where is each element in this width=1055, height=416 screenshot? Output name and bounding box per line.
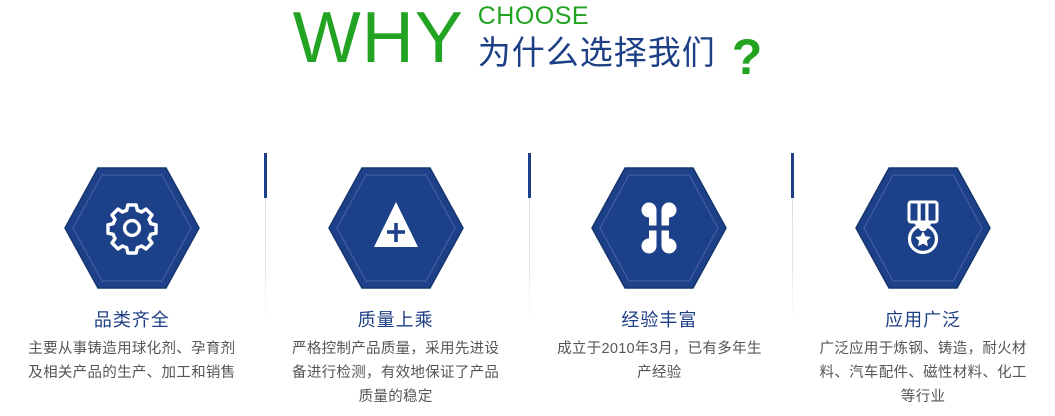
hexagon-badge-4 [855, 167, 991, 289]
divider-fade-segment [265, 198, 266, 323]
feature-card-4[interactable]: 应用广泛 广泛应用于炼钢、铸造，耐火材料、汽车配件、磁性材料、化工等行业 [791, 150, 1055, 416]
feature-card-2[interactable]: 质量上乘 严格控制产品质量，采用先进设备进行检测，有效地保证了产品质量的稳定 [264, 150, 528, 416]
hexagon-shape [855, 167, 991, 289]
card-title: 经验丰富 [621, 309, 697, 331]
hexagon-badge-2 [328, 167, 464, 289]
card-description: 成立于2010年3月，已有多年生产经验 [551, 337, 767, 385]
card-title: 应用广泛 [885, 309, 961, 331]
heading-question-mark: ? [732, 37, 763, 77]
card-title: 质量上乘 [358, 309, 434, 331]
hexagon-shape [64, 167, 200, 289]
divider-accent-segment [528, 153, 531, 198]
hexagon-shape [591, 167, 727, 289]
heading-choose: CHOOSE [478, 3, 763, 30]
divider-accent-segment [791, 153, 794, 198]
card-divider [528, 153, 531, 323]
card-description: 主要从事铸造用球化剂、孕育剂及相关产品的生产、加工和销售 [24, 337, 240, 385]
feature-card-1[interactable]: 品类齐全 主要从事铸造用球化剂、孕育剂及相关产品的生产、加工和销售 [0, 150, 264, 416]
card-divider [791, 153, 794, 323]
page-heading: WHY CHOOSE 为什么选择我们 ? [0, 0, 1055, 96]
hexagon-badge-1 [64, 167, 200, 289]
card-title: 品类齐全 [94, 309, 170, 331]
divider-fade-segment [792, 198, 793, 323]
card-description: 严格控制产品质量，采用先进设备进行检测，有效地保证了产品质量的稳定 [288, 337, 504, 409]
card-description: 广泛应用于炼钢、铸造，耐火材料、汽车配件、磁性材料、化工等行业 [815, 337, 1031, 409]
divider-fade-segment [529, 198, 530, 323]
divider-accent-segment [264, 153, 267, 198]
hexagon-badge-3 [591, 167, 727, 289]
card-divider [264, 153, 267, 323]
feature-card-3[interactable]: 经验丰富 成立于2010年3月，已有多年生产经验 [528, 150, 792, 416]
feature-cards-row: 品类齐全 主要从事铸造用球化剂、孕育剂及相关产品的生产、加工和销售 质量上乘 严… [0, 150, 1055, 416]
heading-why: WHY [293, 0, 464, 76]
heading-chinese-title: 为什么选择我们 [478, 33, 716, 73]
hexagon-shape [328, 167, 464, 289]
